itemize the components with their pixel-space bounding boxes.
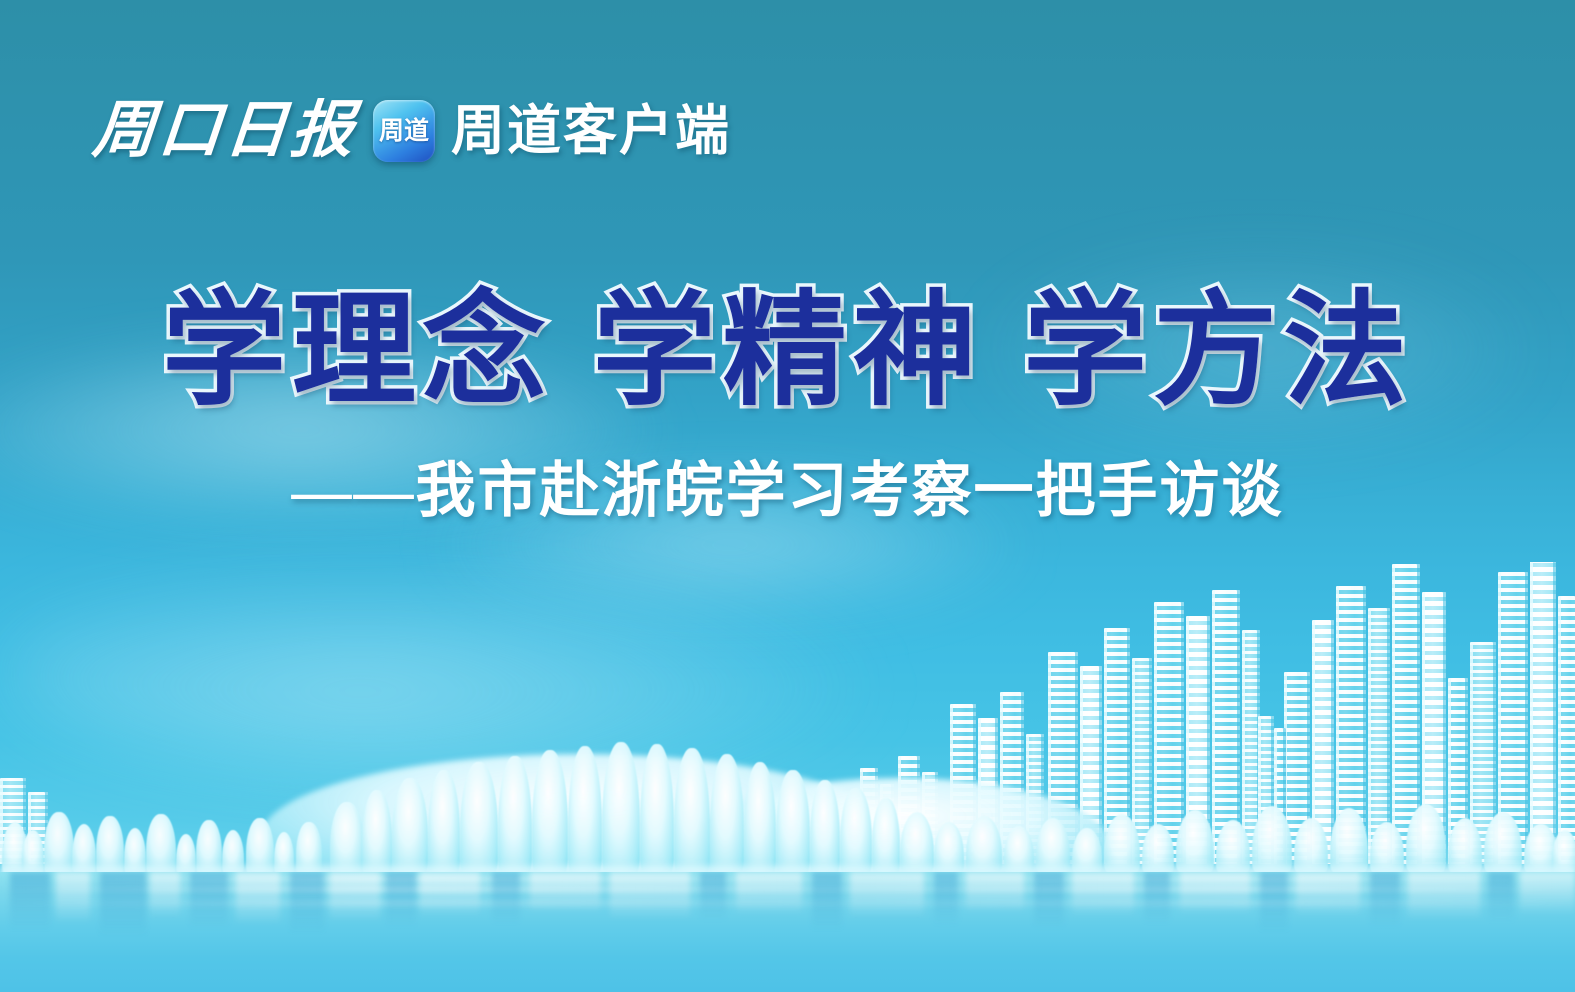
- water-reflection: [0, 872, 1575, 992]
- app-name-label: 周道客户端: [451, 104, 731, 158]
- shoreline: [0, 862, 1575, 884]
- paper-name-logo: 周口日报: [90, 100, 359, 162]
- zhoudao-app-icon[interactable]: 周道: [373, 100, 435, 162]
- page-subtitle: ——我市赴浙皖学习考察一把手访谈: [292, 458, 1284, 524]
- cloud-haze-lower: [0, 560, 900, 780]
- tree-line: [0, 694, 1575, 874]
- headline-title-block: 学理念 学精神 学方法: [0, 286, 1575, 417]
- page-title: 学理念 学精神 学方法: [162, 286, 1413, 417]
- masthead: 周口日报 周道 周道客户端: [93, 92, 731, 170]
- news-banner-poster: 周口日报 周道 周道客户端 学理念 学精神 学方法 ——我市赴浙皖学习考察一把手…: [0, 0, 1575, 992]
- headline-subtitle-block: ——我市赴浙皖学习考察一把手访谈: [0, 458, 1575, 524]
- cityscape-skyline: [0, 562, 1575, 992]
- app-icon-label: 周道: [379, 119, 429, 144]
